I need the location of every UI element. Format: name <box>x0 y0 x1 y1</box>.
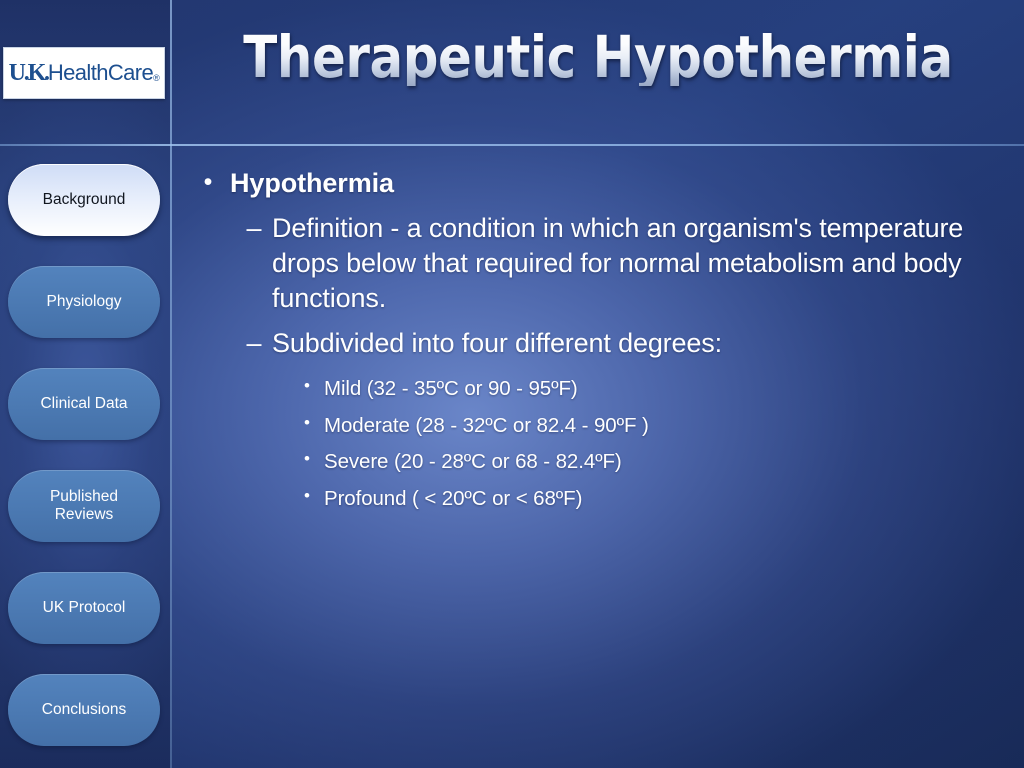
sidebar-item-uk-protocol[interactable]: UK Protocol <box>8 572 160 644</box>
bullet-marker-icon: • <box>290 483 324 515</box>
sidebar-item-published-reviews[interactable]: PublishedReviews <box>8 470 160 542</box>
list-item-text: Profound ( < 20ºC or < 68ºF) <box>324 483 1006 515</box>
dash-marker-icon: – <box>236 211 272 316</box>
sidebar-item-label: Clinical Data <box>40 395 127 413</box>
logo-mark: U.K. <box>9 60 48 86</box>
logo-word: HealthCare <box>48 60 153 85</box>
bullet-level2-text: Definition - a condition in which an org… <box>272 211 1006 316</box>
list-item: •Moderate (28 - 32ºC or 82.4 - 90ºF ) <box>290 410 1006 442</box>
list-item: •Severe (20 - 28ºC or 68 - 82.4ºF) <box>290 446 1006 478</box>
list-item: •Profound ( < 20ºC or < 68ºF) <box>290 483 1006 515</box>
bullet-level1-text: Hypothermia <box>230 166 1006 201</box>
registered-trademark-icon: ® <box>153 73 159 83</box>
bullet-level2-definition: – Definition - a condition in which an o… <box>186 211 1006 316</box>
sidebar-item-label: UK Protocol <box>43 599 126 617</box>
sidebar-nav: BackgroundPhysiologyClinical DataPublish… <box>8 164 160 768</box>
page-title: Therapeutic Hypothermia <box>232 28 965 86</box>
bullet-marker-icon: • <box>186 166 230 201</box>
bullet-level2-degrees: – Subdivided into four different degrees… <box>186 326 1006 361</box>
bullet-level2-text: Subdivided into four different degrees: <box>272 326 1006 361</box>
sidebar-divider <box>170 0 172 768</box>
degree-list: •Mild (32 - 35ºC or 90 - 95ºF)•Moderate … <box>186 373 1006 515</box>
sidebar-item-clinical-data[interactable]: Clinical Data <box>8 368 160 440</box>
sidebar-item-label: Conclusions <box>42 701 126 719</box>
slide-body: • Hypothermia – Definition - a condition… <box>186 160 1006 515</box>
bullet-marker-icon: • <box>290 373 324 405</box>
sidebar-item-background[interactable]: Background <box>8 164 160 236</box>
dash-marker-icon: – <box>236 326 272 361</box>
sidebar-item-physiology[interactable]: Physiology <box>8 266 160 338</box>
list-item-text: Severe (20 - 28ºC or 68 - 82.4ºF) <box>324 446 1006 478</box>
bullet-marker-icon: • <box>290 446 324 478</box>
sidebar-item-label: Physiology <box>47 293 122 311</box>
sidebar-item-conclusions[interactable]: Conclusions <box>8 674 160 746</box>
list-item: •Mild (32 - 35ºC or 90 - 95ºF) <box>290 373 1006 405</box>
logo-text: U.K.HealthCare® <box>9 61 160 85</box>
bullet-marker-icon: • <box>290 410 324 442</box>
list-item-text: Mild (32 - 35ºC or 90 - 95ºF) <box>324 373 1006 405</box>
slide-canvas: U.K.HealthCare® BackgroundPhysiologyClin… <box>0 0 1024 768</box>
header-divider <box>0 144 1024 146</box>
list-item-text: Moderate (28 - 32ºC or 82.4 - 90ºF ) <box>324 410 1006 442</box>
bullet-level1: • Hypothermia <box>186 166 1006 201</box>
uk-healthcare-logo: U.K.HealthCare® <box>3 47 165 99</box>
sidebar-item-label: PublishedReviews <box>50 488 118 525</box>
sidebar-item-label: Background <box>43 191 126 209</box>
